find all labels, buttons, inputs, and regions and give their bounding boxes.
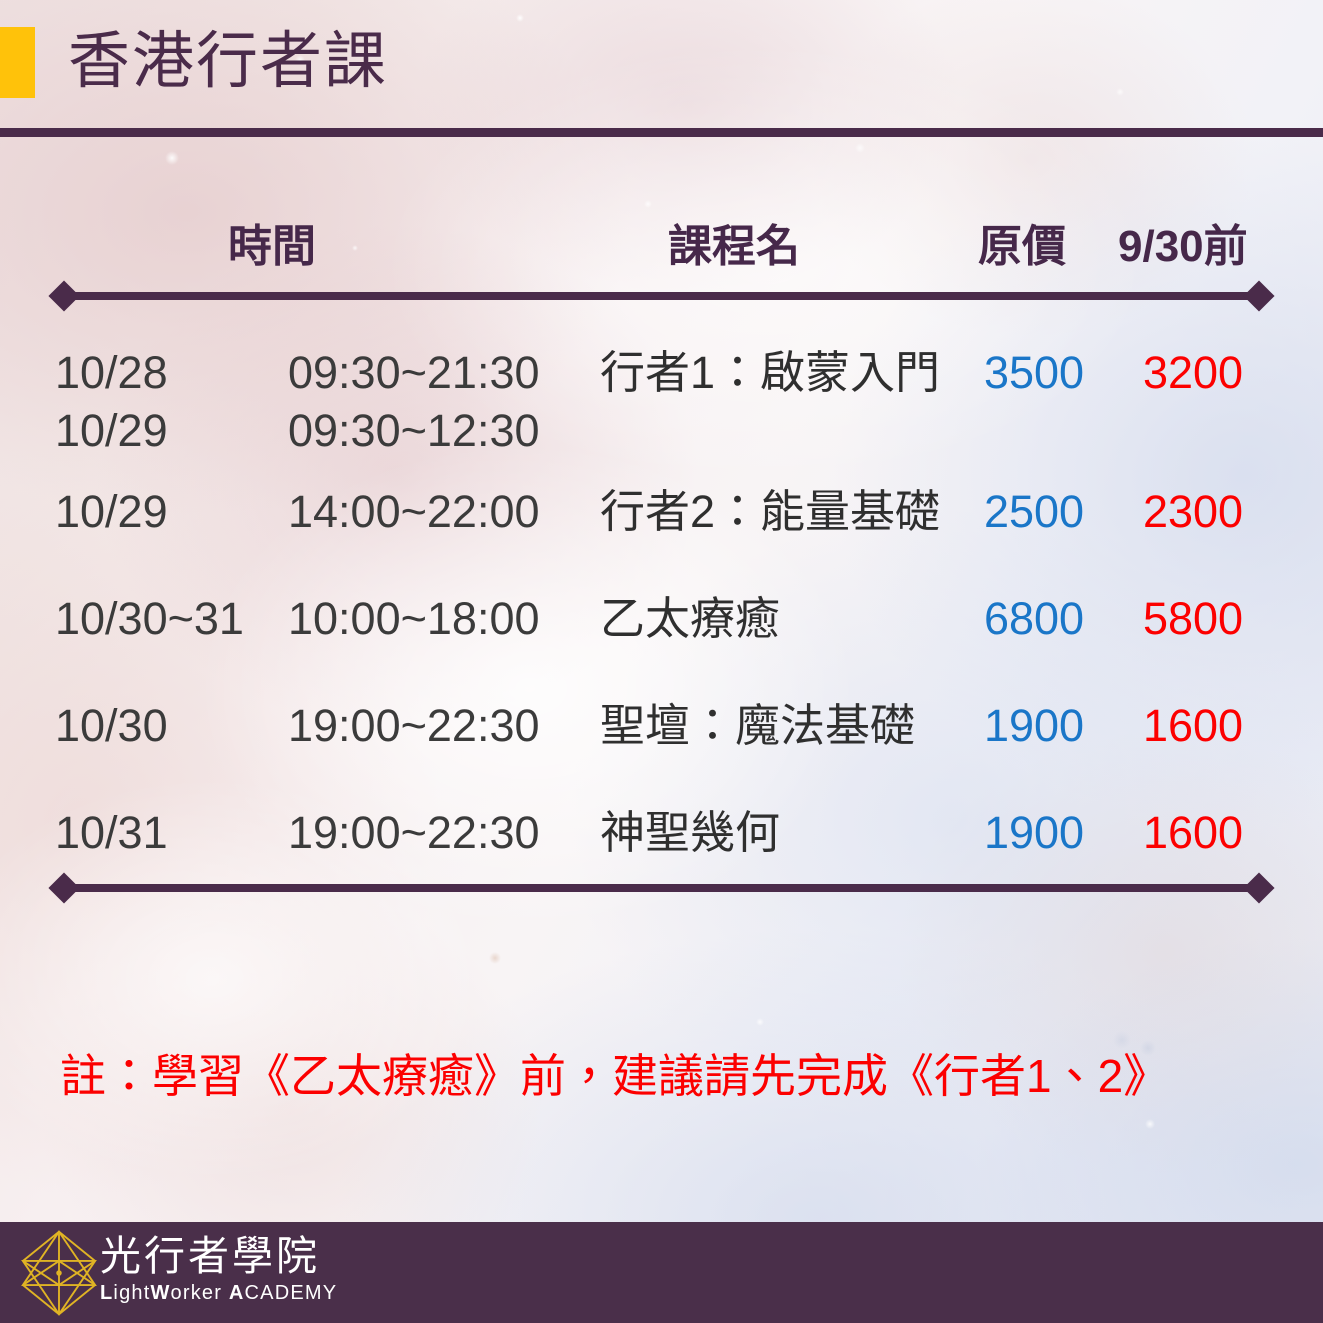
cell-course-name: 乙太療癒 bbox=[600, 591, 780, 647]
cell-sale-price: 1600 bbox=[1118, 805, 1268, 861]
brand-en-a: A bbox=[229, 1282, 245, 1304]
accent-square-icon bbox=[0, 27, 35, 98]
brand-en-l: L bbox=[100, 1282, 113, 1304]
header-divider bbox=[0, 128, 1323, 137]
brand-lockup: 光行者學院 LightWorker ACADEMY bbox=[100, 1232, 337, 1305]
cell-date-line2: 10/29 bbox=[55, 403, 168, 459]
brand-en-w: W bbox=[150, 1282, 170, 1304]
brand-name-en: LightWorker ACADEMY bbox=[100, 1281, 337, 1305]
cell-sale-price: 2300 bbox=[1118, 484, 1268, 540]
cell-date: 10/31 bbox=[55, 805, 168, 861]
table-row: 10/30~31 10:00~18:00 乙太療癒 6800 5800 bbox=[0, 591, 1323, 699]
brand-en-ight: ight bbox=[113, 1282, 150, 1304]
cell-date-line1: 10/28 bbox=[55, 347, 168, 398]
cell-original-price: 6800 bbox=[978, 591, 1090, 647]
cell-date: 10/28 10/29 bbox=[55, 345, 168, 459]
cell-date: 10/30~31 bbox=[55, 591, 244, 647]
cell-time: 19:00~22:30 bbox=[288, 698, 540, 754]
cell-course-name: 行者2：能量基礎 bbox=[600, 484, 940, 540]
cell-sale-price: 5800 bbox=[1118, 591, 1268, 647]
brand-en-cademy: CADEMY bbox=[245, 1282, 338, 1304]
brand-en-orker: orker bbox=[171, 1282, 229, 1304]
cell-time-line2: 09:30~12:30 bbox=[288, 403, 540, 459]
cell-original-price: 1900 bbox=[978, 805, 1090, 861]
cell-time: 09:30~21:30 09:30~12:30 bbox=[288, 345, 540, 459]
cell-time: 19:00~22:30 bbox=[288, 805, 540, 861]
footnote-text: 註：學習《乙太療癒》前，建議請先完成《行者1、2》 bbox=[60, 1046, 1169, 1106]
slide-header: 香港行者課 bbox=[0, 0, 1323, 136]
diamond-cap-icon bbox=[1243, 280, 1274, 311]
cell-sale-price: 3200 bbox=[1118, 345, 1268, 401]
table-row: 10/28 10/29 09:30~21:30 09:30~12:30 行者1：… bbox=[0, 345, 1323, 463]
merkaba-star-tetrahedron-icon bbox=[16, 1228, 102, 1318]
cell-time: 14:00~22:00 bbox=[288, 484, 540, 540]
divider-bar bbox=[64, 292, 1259, 300]
cell-original-price: 2500 bbox=[978, 484, 1090, 540]
cell-course-name: 行者1：啟蒙入門 bbox=[600, 345, 940, 401]
cell-date: 10/30 bbox=[55, 698, 168, 754]
cell-course-name: 神聖幾何 bbox=[600, 805, 780, 861]
column-header-sale: 9/30前 bbox=[1118, 210, 1248, 274]
cell-date: 10/29 bbox=[55, 484, 168, 540]
cell-time: 10:00~18:00 bbox=[288, 591, 540, 647]
slide-canvas: 香港行者課 時間 課程名 原價 9/30前 10/28 10/29 09:30~… bbox=[0, 0, 1323, 1323]
column-header-price: 原價 bbox=[978, 210, 1066, 274]
page-title: 香港行者課 bbox=[68, 18, 388, 106]
brand-name-cn: 光行者學院 bbox=[100, 1232, 337, 1280]
table-divider-bottom bbox=[55, 877, 1268, 899]
table-divider-top bbox=[55, 285, 1268, 307]
cell-course-name: 聖壇：魔法基礎 bbox=[600, 698, 915, 754]
footer-bar: 光行者學院 LightWorker ACADEMY bbox=[0, 1222, 1323, 1323]
cell-original-price: 3500 bbox=[978, 345, 1090, 401]
table-row: 10/29 14:00~22:00 行者2：能量基礎 2500 2300 bbox=[0, 484, 1323, 592]
column-header-time: 時間 bbox=[228, 210, 316, 274]
cell-sale-price: 1600 bbox=[1118, 698, 1268, 754]
column-header-course: 課程名 bbox=[668, 210, 800, 274]
cell-original-price: 1900 bbox=[978, 698, 1090, 754]
cell-time-line1: 09:30~21:30 bbox=[288, 347, 540, 398]
table-row: 10/30 19:00~22:30 聖壇：魔法基礎 1900 1600 bbox=[0, 698, 1323, 806]
divider-bar bbox=[64, 884, 1259, 892]
